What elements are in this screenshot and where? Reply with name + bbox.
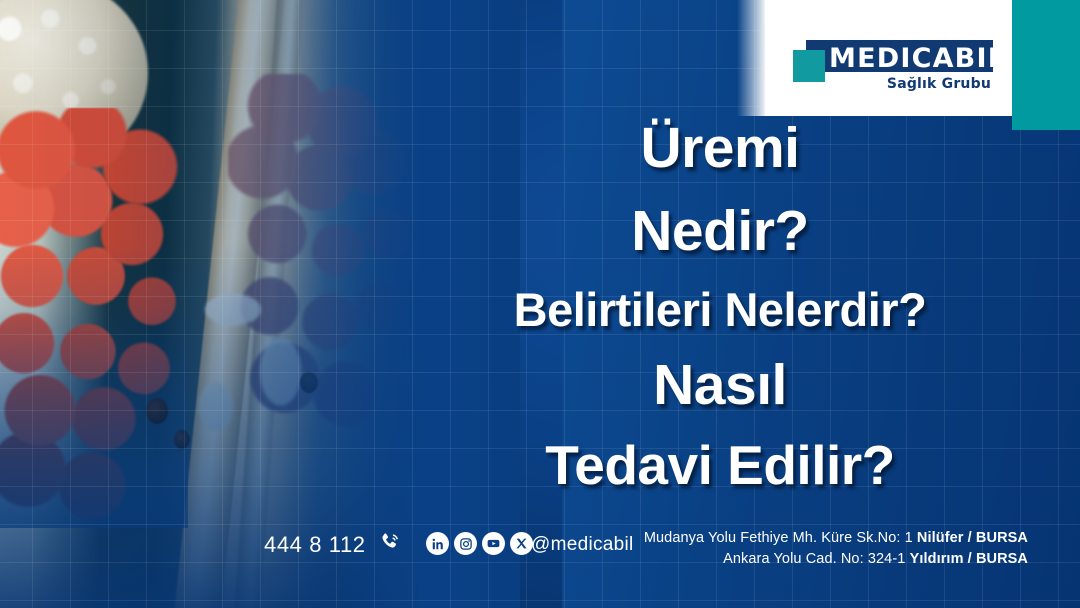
headline-line-4: Nasıl bbox=[380, 357, 1060, 414]
footer-bar: 444 8 112 bbox=[0, 522, 1080, 608]
logo-teal-square bbox=[793, 50, 825, 82]
address-line-1-bold: Nilüfer / BURSA bbox=[917, 530, 1028, 546]
address-line-2: Ankara Yolu Cad. No: 324-1 Yıldırım / BU… bbox=[644, 549, 1028, 570]
address-block: Mudanya Yolu Fethiye Mh. Küre Sk.No: 1 N… bbox=[644, 528, 1028, 570]
teal-accent-block bbox=[1012, 0, 1080, 130]
phone-number: 444 8 112 bbox=[264, 532, 366, 558]
address-line-2-plain: Ankara Yolu Cad. No: 324-1 bbox=[723, 551, 910, 567]
youtube-icon[interactable] bbox=[482, 532, 505, 555]
phone-contact[interactable]: 444 8 112 bbox=[264, 530, 402, 560]
x-twitter-icon[interactable] bbox=[510, 532, 533, 555]
logo-tagline: Sağlık Grubu bbox=[887, 76, 991, 92]
headline-line-2: Nedir? bbox=[380, 203, 1060, 260]
address-line-1: Mudanya Yolu Fethiye Mh. Küre Sk.No: 1 N… bbox=[644, 528, 1028, 549]
headline-line-1: Üremi bbox=[380, 120, 1060, 177]
headline-block: Üremi Nedir? Belirtileri Nelerdir? Nasıl… bbox=[380, 120, 1060, 493]
linkedin-icon[interactable] bbox=[426, 532, 449, 555]
headline-line-5: Tedavi Edilir? bbox=[380, 438, 1060, 493]
address-line-2-bold: Yıldırım / BURSA bbox=[910, 551, 1028, 567]
social-links bbox=[426, 532, 533, 555]
medicabil-logo[interactable]: MEDICABIL Sağlık Grubu bbox=[793, 36, 993, 96]
headline-line-3: Belirtileri Nelerdir? bbox=[380, 286, 1060, 333]
instagram-icon[interactable] bbox=[454, 532, 477, 555]
logo-wordmark: MEDICABIL bbox=[829, 43, 1006, 74]
logo-plate-fade bbox=[737, 0, 767, 116]
phone-call-icon bbox=[378, 530, 402, 560]
address-line-1-plain: Mudanya Yolu Fethiye Mh. Küre Sk.No: 1 bbox=[644, 530, 917, 546]
social-handle: @medicabil bbox=[531, 534, 634, 556]
promo-banner: MEDICABIL Sağlık Grubu Üremi Nedir? Beli… bbox=[0, 0, 1080, 608]
